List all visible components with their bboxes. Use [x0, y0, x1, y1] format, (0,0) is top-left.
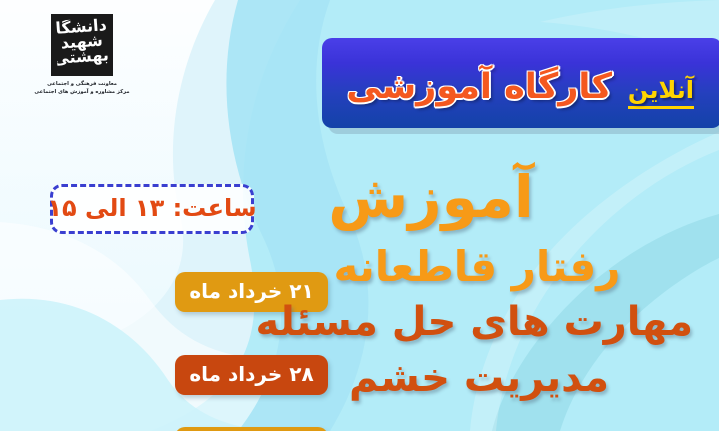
university-seal-icon: دانشگاه شهید بهشتی	[51, 14, 113, 76]
banner-subtitle: آنلاین	[628, 78, 694, 109]
session-time-text: ساعت: ۱۳ الی ۱۵	[47, 196, 256, 220]
session-time-chip: ساعت: ۱۳ الی ۱۵	[50, 184, 254, 234]
logo-caption-line-2: مرکز مشاوره و آموزش های اجتماعی	[22, 89, 142, 97]
university-logo: دانشگاه شهید بهشتی معاونت فرهنگی و اجتما…	[22, 8, 142, 126]
headline-assertive-behavior: رفتار قاطعانه	[281, 246, 701, 288]
headline-stack: آموزش رفتار قاطعانه مهارت های حل مسئله م…	[281, 168, 701, 398]
workshop-banner: آنلاین کارگاه آموزشی	[322, 38, 719, 128]
logo-caption: معاونت فرهنگی و اجتماعی مرکز مشاوره و آم…	[22, 81, 142, 96]
logo-caption-line-1: معاونت فرهنگی و اجتماعی	[22, 81, 142, 89]
headline-anger-management: مدیریت خشم	[281, 358, 701, 398]
date-badge-3: ۴ تیر ماه	[175, 427, 328, 431]
banner-title: کارگاه آموزشی	[346, 70, 612, 105]
banner-content: آنلاین کارگاه آموزشی	[322, 70, 706, 109]
logo-mark-line-3: بهشتی	[56, 47, 109, 66]
headline-problem-solving: مهارت های حل مسئله	[281, 302, 701, 342]
headline-education: آموزش	[281, 168, 701, 226]
workshop-poster: دانشگاه شهید بهشتی معاونت فرهنگی و اجتما…	[0, 0, 719, 431]
